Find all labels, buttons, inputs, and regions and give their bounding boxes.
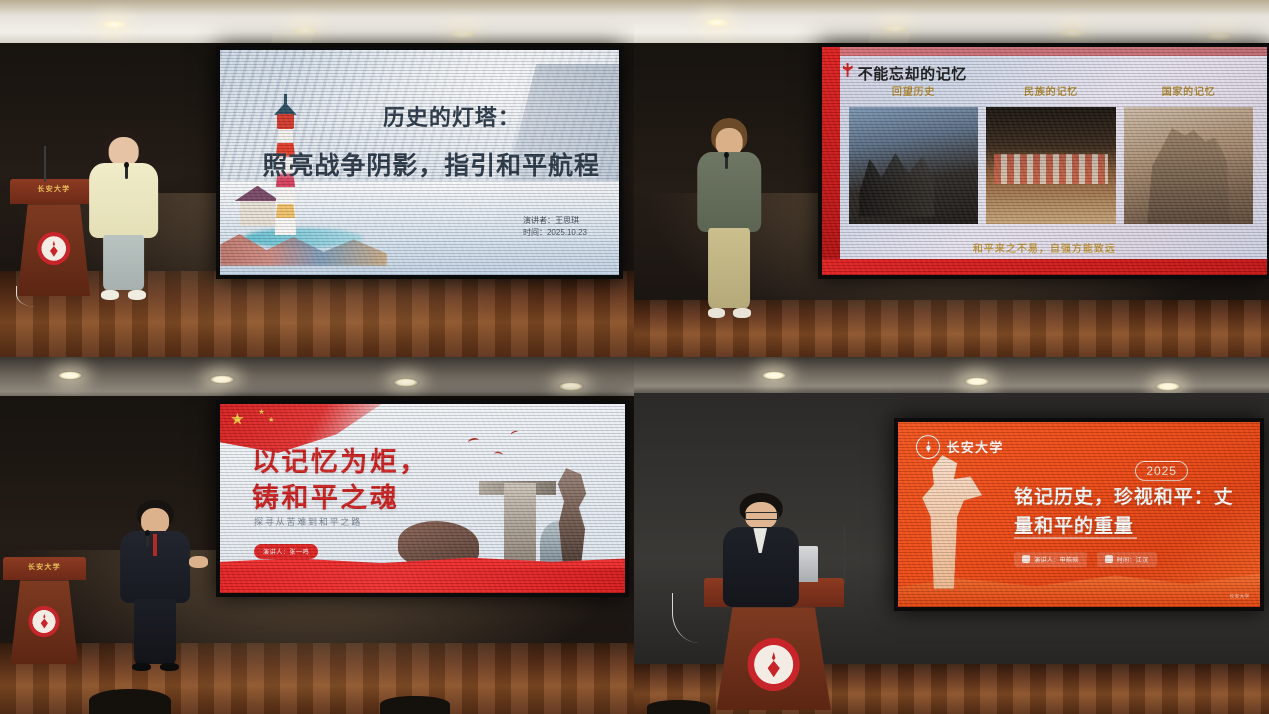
audience-silhouette <box>89 689 171 714</box>
speaker-hand <box>189 556 209 568</box>
microphone-stand <box>44 146 46 182</box>
downlight-icon <box>1059 29 1085 38</box>
speaker-chip-label: 演讲人：申皓晗 <box>1034 555 1079 564</box>
podium-text: 长安大学 <box>3 562 85 572</box>
ceiling <box>0 0 634 46</box>
column-photo <box>986 107 1115 224</box>
statue-graphic <box>906 455 989 589</box>
slide-speaker-badge: 演讲人：张一鸣 <box>254 544 318 559</box>
calendar-icon <box>1105 555 1113 563</box>
university-crest-icon <box>916 435 940 459</box>
slide-title: 不能忘却的记忆 <box>858 63 967 84</box>
date-chip-label: 时间：江汉 <box>1117 555 1149 564</box>
slide-torch: 以记忆为炬， 铸和平之魂 探寻从苦难到和平之路 演讲人：张一鸣 <box>220 404 626 593</box>
slide-meta: 演讲者：王思琪 时间：2025.10.23 <box>523 215 587 239</box>
slide-title-line1: 历史的灯塔： <box>301 100 603 132</box>
speaker-trousers <box>708 228 750 308</box>
glasses-icon <box>745 512 779 520</box>
necktie <box>153 534 158 556</box>
bird-icon <box>493 451 502 458</box>
column-label: 国家的记忆 <box>1124 83 1253 98</box>
speaker-person <box>723 493 799 607</box>
speaker-person <box>89 129 159 300</box>
torch-mark-icon <box>843 63 853 77</box>
column-photo <box>849 107 978 224</box>
projection-screen: 不能忘却的记忆 回望历史 民族的记忆 国家的记忆 和平来之不易，自 <box>818 43 1269 279</box>
person-icon <box>1022 555 1030 563</box>
slide-title-block: 铭记历史，珍视和平：丈 量和平的重量 <box>1014 483 1238 542</box>
microphone-icon <box>125 166 128 179</box>
microphone-icon <box>146 534 149 547</box>
year-badge: 2025 <box>1135 461 1188 481</box>
downlight-icon <box>558 382 584 391</box>
downlight-icon <box>209 375 235 384</box>
projection-screen: 以记忆为炬， 铸和平之魂 探寻从苦难到和平之路 演讲人：张一鸣 <box>216 400 630 597</box>
downlight-icon <box>292 27 318 36</box>
university-emblem-icon <box>29 606 60 637</box>
audience-silhouette <box>647 700 711 714</box>
speaker-person <box>120 500 190 671</box>
column-photo <box>1124 107 1253 224</box>
panel-top-right: 不能忘却的记忆 回望历史 民族的记忆 国家的记忆 和平来之不易，自 <box>634 0 1269 357</box>
speaker-trousers <box>103 235 145 290</box>
slide-footer: 和平来之不易，自强方能致远 <box>822 240 1267 255</box>
bird-icon <box>510 430 519 438</box>
red-ribbon <box>220 563 626 593</box>
slide-title-line1: 以记忆为炬， <box>252 445 429 480</box>
downlight-icon <box>704 18 730 27</box>
projection-screen: 历史的灯塔： 照亮战争阴影，指引和平航程 演讲者：王思琪 时间：2025.10.… <box>216 46 623 279</box>
slide-title-line2: 铸和平之魂 <box>252 481 429 516</box>
podium-text: 长安大学 <box>10 184 99 194</box>
monument-pillar <box>504 483 536 566</box>
downlight-icon <box>1155 382 1181 391</box>
speaker-sweater <box>698 152 762 232</box>
downlight-icon <box>964 377 990 386</box>
projection-screen: 长安大学 2025 铭记历史，珍视和平：丈 量和平的重量 演讲人：申皓晗 时间：… <box>894 418 1264 612</box>
bird-icon <box>468 437 480 446</box>
slide-title-block: 以记忆为炬， 铸和平之魂 <box>252 445 429 515</box>
panel-bottom-right: 长安大学 2025 铭记历史，珍视和平：丈 量和平的重量 演讲人：申皓晗 时间：… <box>634 357 1269 714</box>
slide-title-line1: 铭记历史，珍视和平：丈 <box>1014 483 1238 512</box>
audience-silhouette <box>380 696 450 714</box>
slide-memory: 不能忘却的记忆 回望历史 民族的记忆 国家的记忆 和平来之不易，自 <box>822 47 1267 275</box>
university-emblem-icon <box>37 232 70 265</box>
microphone-icon <box>725 156 728 169</box>
date-chip: 时间：江汉 <box>1097 552 1157 567</box>
university-logo: 长安大学 <box>916 435 1003 459</box>
speaker-person <box>698 118 762 318</box>
downlight-icon <box>1206 32 1232 41</box>
slide-column: 回望历史 <box>849 102 978 235</box>
slide-info-chips: 演讲人：申皓晗 时间：江汉 <box>1014 552 1156 567</box>
downlight-icon <box>101 20 127 29</box>
column-label: 民族的记忆 <box>986 83 1115 98</box>
slide-column: 国家的记忆 <box>1124 102 1253 235</box>
university-emblem-icon <box>747 638 800 691</box>
speaker-chip: 演讲人：申皓晗 <box>1014 552 1087 567</box>
podium: 长安大学 <box>10 179 99 297</box>
column-label: 回望历史 <box>849 83 978 98</box>
podium: 长安大学 <box>3 557 85 664</box>
slide-lighthouse: 历史的灯塔： 照亮战争阴影，指引和平航程 演讲者：王思琪 时间：2025.10.… <box>220 50 619 275</box>
logo-name: 长安大学 <box>946 437 1003 456</box>
photo-collage: 历史的灯塔： 照亮战争阴影，指引和平航程 演讲者：王思琪 时间：2025.10.… <box>0 0 1269 714</box>
panel-top-left: 历史的灯塔： 照亮战争阴影，指引和平航程 演讲者：王思琪 时间：2025.10.… <box>0 0 634 357</box>
slide-title-line2: 照亮战争阴影，指引和平航程 <box>259 146 603 182</box>
downlight-icon <box>882 25 908 34</box>
slide-date-label: 时间：2025.10.23 <box>523 227 587 239</box>
slide-corner-text: 长安大学 <box>1229 593 1249 600</box>
slide-speaker-label: 演讲者：王思琪 <box>523 215 587 227</box>
slide-orange: 长安大学 2025 铭记历史，珍视和平：丈 量和平的重量 演讲人：申皓晗 时间：… <box>898 422 1260 608</box>
slide-subtitle: 探寻从苦难到和平之路 <box>254 515 362 528</box>
speaker-trousers <box>134 599 176 664</box>
speaker-coat <box>89 163 159 238</box>
panel-bottom-left: 以记忆为炬， 铸和平之魂 探寻从苦难到和平之路 演讲人：张一鸣 长安大学 <box>0 357 634 714</box>
slide-column: 民族的记忆 <box>986 102 1115 235</box>
slide-columns: 回望历史 民族的记忆 国家的记忆 <box>849 102 1254 235</box>
slide-title-block: 历史的灯塔： 照亮战争阴影，指引和平航程 <box>259 100 603 182</box>
title-rule <box>1014 537 1137 539</box>
microphone-stand <box>844 525 846 586</box>
